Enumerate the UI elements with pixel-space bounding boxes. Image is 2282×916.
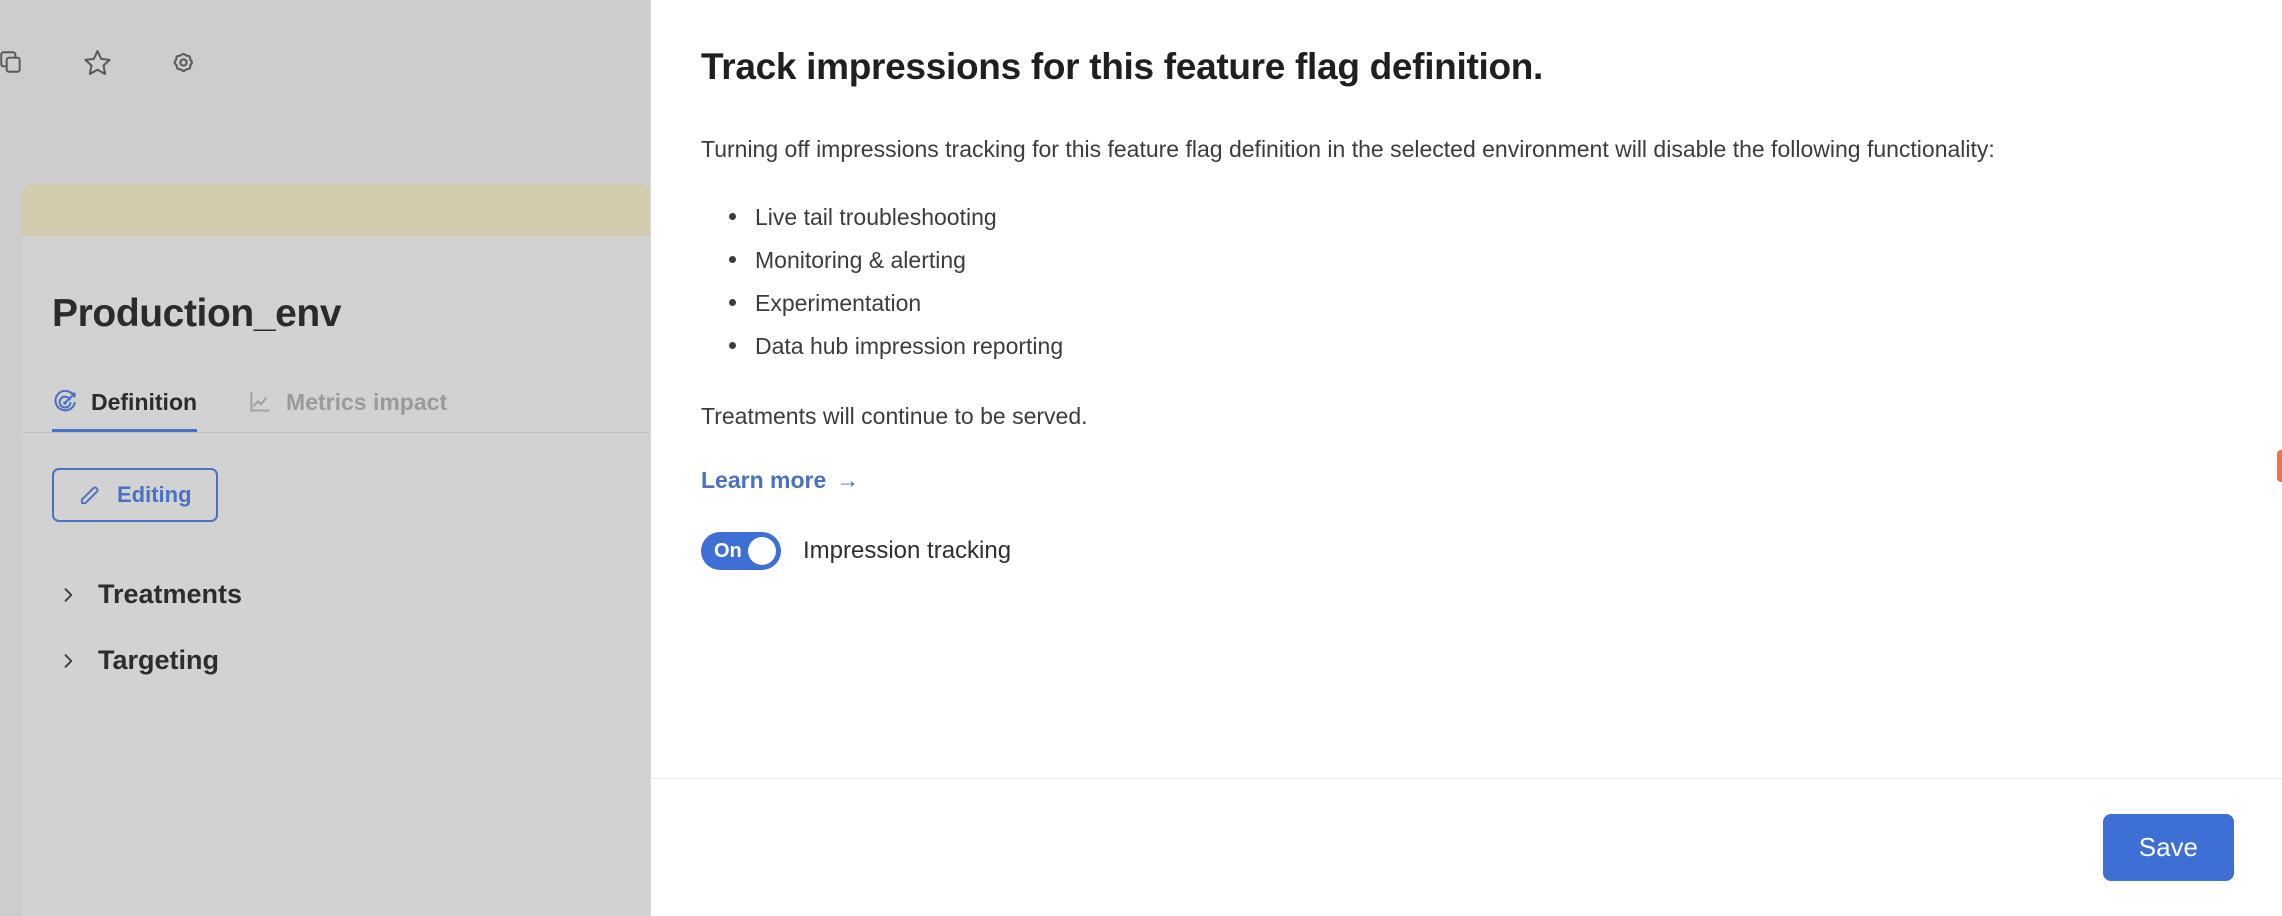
pencil-icon [78, 483, 102, 507]
tree-item-treatments-label: Treatments [98, 579, 242, 610]
star-icon[interactable] [80, 45, 114, 79]
list-item: Data hub impression reporting [729, 325, 2232, 368]
editing-button[interactable]: Editing [52, 468, 218, 522]
impression-tracking-label: Impression tracking [803, 537, 1011, 565]
panel-description: Turning off impressions tracking for thi… [701, 132, 2221, 168]
tab-metrics-impact-label: Metrics impact [286, 389, 447, 416]
tree-item-treatments[interactable]: Treatments [58, 562, 650, 627]
copy-icon[interactable] [0, 45, 28, 79]
panel-title: Track impressions for this feature flag … [701, 44, 2232, 90]
environment-card: Production_env Definition [22, 184, 650, 916]
impressions-tracking-panel: Track impressions for this feature flag … [650, 0, 2282, 916]
chevron-right-icon [58, 585, 78, 605]
tabs-divider [22, 432, 650, 433]
line-chart-icon [247, 390, 273, 416]
arrow-right-icon: → [836, 467, 859, 494]
toggle-state-label: On [714, 540, 742, 563]
panel-footer: Save [651, 779, 2282, 916]
list-item: Experimentation [729, 282, 2232, 325]
chevron-right-icon [58, 651, 78, 671]
tree-item-targeting-label: Targeting [98, 645, 219, 676]
save-button[interactable]: Save [2103, 814, 2234, 881]
list-item: Live tail troubleshooting [729, 196, 2232, 239]
impression-tracking-row: On Impression tracking [701, 532, 2232, 570]
disabled-functionality-list: Live tail troubleshooting Monitoring & a… [701, 196, 2232, 368]
toggle-knob [748, 537, 776, 565]
page-title: Production_env [52, 292, 650, 336]
list-item: Monitoring & alerting [729, 239, 2232, 282]
tab-definition-label: Definition [91, 389, 197, 416]
page-toolbar [0, 45, 200, 79]
feedback-tab-icon[interactable] [2277, 450, 2282, 482]
gear-icon[interactable] [166, 45, 200, 79]
background-page: Production_env Definition [0, 0, 650, 916]
learn-more-label: Learn more [701, 467, 826, 494]
environment-tabs: Definition Metrics impact [52, 380, 650, 432]
tab-metrics-impact[interactable]: Metrics impact [247, 389, 447, 432]
panel-body: Track impressions for this feature flag … [651, 0, 2282, 778]
impression-tracking-toggle[interactable]: On [701, 532, 781, 570]
learn-more-link[interactable]: Learn more → [701, 467, 859, 494]
environment-banner [22, 184, 650, 236]
editing-button-label: Editing [117, 482, 192, 508]
app-root: Production_env Definition [0, 0, 2282, 916]
target-icon [52, 390, 78, 416]
definition-tree: Treatments Targeting [58, 562, 650, 693]
tab-definition[interactable]: Definition [52, 389, 197, 432]
treatments-note: Treatments will continue to be served. [701, 403, 2232, 430]
tree-item-targeting[interactable]: Targeting [58, 628, 650, 693]
